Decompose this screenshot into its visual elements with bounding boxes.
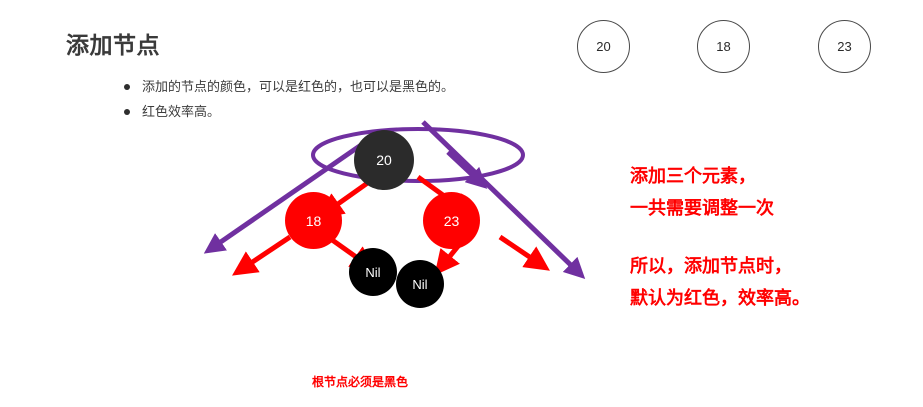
edge-18-left-nil: [242, 237, 290, 269]
list-item: 添加的节点的颜色，可以是红色的，也可以是黑色的。: [124, 78, 554, 95]
bottom-caption: 根节点必须是黑色: [312, 373, 408, 390]
tree-node-label: 23: [444, 214, 460, 228]
callout-bottom-line-1: 所以，添加节点时，: [630, 250, 810, 282]
tree-node-label: Nil: [412, 278, 427, 291]
page-title: 添加节点: [66, 26, 160, 60]
tree-node-label: 18: [306, 214, 322, 228]
sequence-circle-23: 23: [818, 20, 871, 73]
tree-node-label: 20: [376, 153, 392, 167]
sequence-circle-20: 20: [577, 20, 630, 73]
tree-node-label: Nil: [365, 266, 380, 279]
sequence-circle-18: 18: [697, 20, 750, 73]
callout-top-line-1: 添加三个元素，: [630, 160, 774, 192]
callout-top: 添加三个元素， 一共需要调整一次: [630, 160, 774, 224]
tree-node-nil-right: Nil: [396, 260, 444, 308]
callout-bottom-line-2: 默认为红色，效率高。: [630, 282, 810, 314]
tree-node-23: 23: [423, 192, 480, 249]
tree-node-nil-left: Nil: [349, 248, 397, 296]
bullet-dot-icon: [124, 109, 130, 115]
tree-node-18: 18: [285, 192, 342, 249]
slide-canvas: 添加节点 添加的节点的颜色，可以是红色的，也可以是黑色的。 红色效率高。 20 …: [0, 0, 923, 407]
callout-top-line-2: 一共需要调整一次: [630, 192, 774, 224]
tree-node-20: 20: [354, 130, 414, 190]
callout-bottom: 所以，添加节点时， 默认为红色，效率高。: [630, 250, 810, 314]
sequence-circle-label: 23: [837, 39, 851, 54]
sequence-circle-label: 18: [716, 39, 730, 54]
edge-23-right-nil: [500, 237, 540, 264]
bullet-dot-icon: [124, 84, 130, 90]
list-item-label: 添加的节点的颜色，可以是红色的，也可以是黑色的。: [142, 79, 454, 94]
sequence-circle-label: 20: [596, 39, 610, 54]
